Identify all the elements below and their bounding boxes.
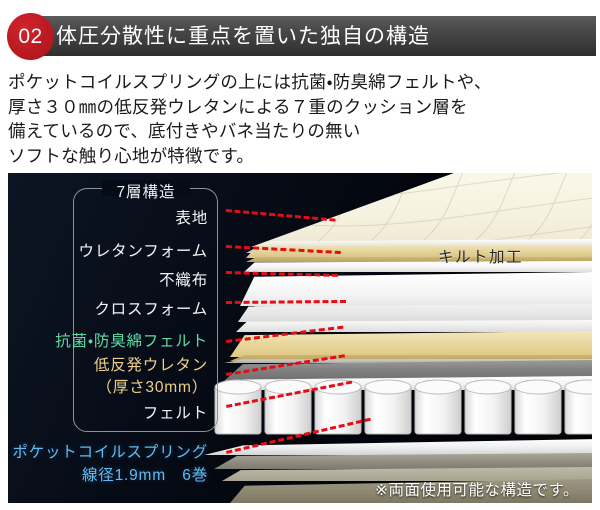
intro-paragraph: ポケットコイルスプリングの上には抗菌・防臭綿フェルトや、 厚さ３０㎜の低反発ウレ… <box>8 70 596 168</box>
section-number-badge: 02 <box>7 13 54 60</box>
quilted-top-surface <box>251 173 592 247</box>
label-low-resilience-thickness: （厚さ30mm） <box>97 375 208 397</box>
label-cross-foam: クロスフォーム <box>94 297 208 319</box>
quilt-processing-label: キルト加工 <box>438 245 523 267</box>
label-surface-fabric: 表地 <box>175 206 208 228</box>
label-non-woven-fabric: 不織布 <box>159 268 208 290</box>
label-felt: フェルト <box>143 401 208 423</box>
intro-line-4: ソフトな触り心地が特徴です。 <box>8 144 596 169</box>
label-low-resilience-urethane: 低反発ウレタン <box>94 353 208 375</box>
label-urethane-foam: ウレタンフォーム <box>79 239 208 261</box>
dual-side-note: ※両面使用可能な構造です。 <box>375 478 579 500</box>
label-pocket-coil-spec: 線径1.9mm 6巻 <box>82 463 208 485</box>
intro-line-1: ポケットコイルスプリングの上には抗菌・防臭綿フェルトや、 <box>8 70 596 95</box>
pocket-coil-graphic <box>213 358 592 448</box>
layer-bottom-felt-1 <box>214 453 592 469</box>
layer-non-woven-fabric <box>244 261 592 272</box>
layer-antibacterial-cotton-felt <box>236 320 592 332</box>
section-header: 体圧分散性に重点を置いた独自の構造 02 <box>0 8 600 56</box>
intro-line-3: 備えているので、底付きやバネ当たりの無い <box>8 119 596 144</box>
mattress-cutaway-diagram: キルト加工 ※両面使用可能な構造です。 7層構造 表地 ウレタンフォーム 不織布… <box>8 173 592 503</box>
seven-layer-title: 7層構造 <box>96 180 196 202</box>
layer-cross-foam-lower <box>238 304 592 322</box>
intro-line-2: 厚さ３０㎜の低反発ウレタンによる７重のクッション層を <box>8 95 596 120</box>
label-pocket-coil-spring: ポケットコイルスプリング <box>12 440 208 462</box>
page-title: 体圧分散性に重点を置いた独自の構造 <box>56 21 576 53</box>
pocket-coil-row <box>213 358 592 448</box>
label-antibacterial-cotton-felt: 抗菌・防臭綿フェルト <box>55 329 208 351</box>
infographic-page: 体圧分散性に重点を置いた独自の構造 02 ポケットコイルスプリングの上には抗菌・… <box>0 0 600 510</box>
quilt-pattern <box>251 173 592 247</box>
